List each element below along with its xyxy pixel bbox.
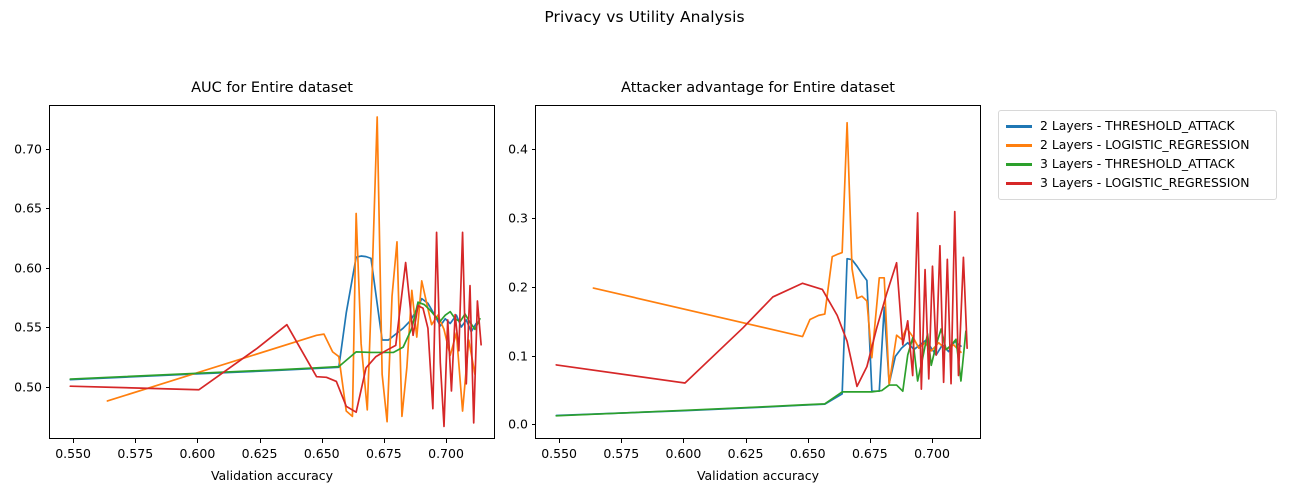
y-tick-label: 0.60 (1, 260, 42, 275)
legend: 2 Layers - THRESHOLD_ATTACK2 Layers - LO… (998, 110, 1277, 200)
x-tick-label: 0.700 (428, 446, 464, 461)
y-tick-label: 0.3 (487, 211, 528, 226)
y-tickmark (532, 424, 536, 425)
x-tickmark (746, 439, 747, 443)
x-tick-label: 0.675 (366, 446, 402, 461)
legend-item: 3 Layers - THRESHOLD_ATTACK (1006, 155, 1268, 174)
y-tickmark (532, 287, 536, 288)
x-tickmark (932, 439, 933, 443)
plot-lines-auc (50, 106, 494, 438)
x-tick-label: 0.700 (914, 446, 950, 461)
x-tick-label: 0.625 (728, 446, 764, 461)
y-tickmark (46, 327, 50, 328)
x-tickmark (260, 439, 261, 443)
x-tickmark (322, 439, 323, 443)
y-tickmark (532, 149, 536, 150)
x-tick-label: 0.650 (304, 446, 340, 461)
x-tick-label: 0.575 (603, 446, 639, 461)
x-tick-label: 0.600 (666, 446, 702, 461)
figure-canvas: Privacy vs Utility Analysis AUC for Enti… (0, 0, 1289, 495)
x-tickmark (683, 439, 684, 443)
axes-attacker-advantage: Attacker advantage for Entire dataset (535, 105, 981, 439)
x-tick-label: 0.600 (180, 446, 216, 461)
axes-title-attacker-advantage: Attacker advantage for Entire dataset (536, 80, 980, 96)
y-tick-label: 0.65 (1, 201, 42, 216)
y-tickmark (46, 149, 50, 150)
y-tickmark (46, 268, 50, 269)
x-tickmark (135, 439, 136, 443)
x-axis-label: Validation accuracy (535, 468, 981, 483)
legend-item-label: 2 Layers - LOGISTIC_REGRESSION (1040, 139, 1249, 151)
x-tick-label: 0.575 (117, 446, 153, 461)
axes-title-auc: AUC for Entire dataset (50, 80, 494, 96)
x-tick-label: 0.550 (541, 446, 577, 461)
x-tickmark (870, 439, 871, 443)
y-tick-label: 0.4 (487, 142, 528, 157)
x-tick-label: 0.675 (852, 446, 888, 461)
x-tickmark (384, 439, 385, 443)
legend-color-swatch (1006, 144, 1032, 146)
y-tick-label: 0.1 (487, 348, 528, 363)
series-line (556, 329, 966, 416)
legend-item-label: 3 Layers - THRESHOLD_ATTACK (1040, 158, 1235, 170)
legend-item-label: 3 Layers - LOGISTIC_REGRESSION (1040, 177, 1249, 189)
y-tick-label: 0.0 (487, 417, 528, 432)
y-tick-label: 0.70 (1, 141, 42, 156)
axes-auc: AUC for Entire dataset (49, 105, 495, 439)
y-tick-label: 0.2 (487, 279, 528, 294)
plot-lines-attacker-advantage (536, 106, 980, 438)
series-line (556, 212, 967, 390)
x-tickmark (73, 439, 74, 443)
x-axis-label: Validation accuracy (49, 468, 495, 483)
y-tickmark (532, 356, 536, 357)
x-tickmark (621, 439, 622, 443)
figure-title: Privacy vs Utility Analysis (0, 8, 1289, 26)
legend-color-swatch (1006, 163, 1032, 165)
x-tick-label: 0.550 (55, 446, 91, 461)
legend-item: 3 Layers - LOGISTIC_REGRESSION (1006, 174, 1268, 193)
x-tickmark (559, 439, 560, 443)
x-tick-label: 0.625 (242, 446, 278, 461)
series-line (70, 232, 481, 426)
legend-color-swatch (1006, 125, 1032, 127)
legend-item: 2 Layers - THRESHOLD_ATTACK (1006, 117, 1268, 136)
y-tick-label: 0.55 (1, 320, 42, 335)
x-tickmark (808, 439, 809, 443)
legend-item-label: 2 Layers - THRESHOLD_ATTACK (1040, 120, 1235, 132)
x-tick-label: 0.650 (790, 446, 826, 461)
y-tick-label: 0.50 (1, 379, 42, 394)
x-tickmark (197, 439, 198, 443)
x-tickmark (446, 439, 447, 443)
y-tickmark (46, 387, 50, 388)
legend-color-swatch (1006, 182, 1032, 184)
series-line (556, 259, 961, 416)
y-tickmark (46, 208, 50, 209)
y-tickmark (532, 218, 536, 219)
legend-item: 2 Layers - LOGISTIC_REGRESSION (1006, 136, 1268, 155)
